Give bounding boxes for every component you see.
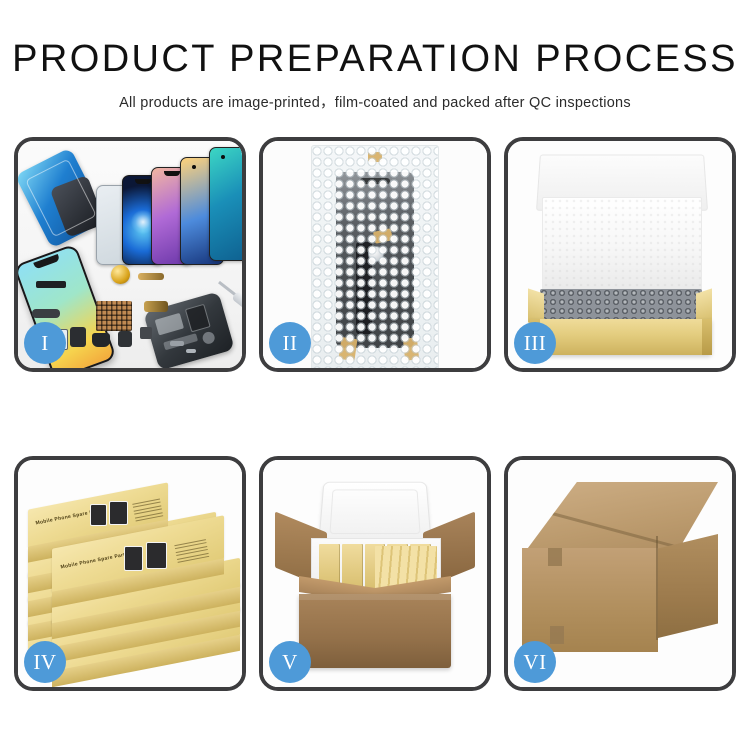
notch-icon <box>135 179 151 184</box>
spare-part-icon <box>118 331 132 347</box>
carton-tape-icon <box>548 548 562 566</box>
phone-screen-teal-icon <box>209 147 242 261</box>
step-badge-5: V <box>269 641 311 683</box>
step-panel-open-retail-box[interactable]: III <box>504 137 736 372</box>
header: PRODUCT PREPARATION PROCESS All products… <box>0 0 750 112</box>
yellow-box-base-icon <box>530 319 712 355</box>
bubble-texture-icon <box>312 146 438 368</box>
page-subtitle: All products are image-printed，film-coat… <box>0 91 750 112</box>
step-panel-phones-and-parts[interactable]: I <box>14 137 246 372</box>
step-panel-stacked-retail-boxes[interactable]: Mobile Phone Spare Parts Mobile Phone <box>14 456 246 691</box>
step-panel-sealed-shipping-carton[interactable]: VI <box>504 456 736 691</box>
carton-front-face-icon <box>522 548 658 652</box>
foam-lid-icon <box>318 482 431 543</box>
step-badge-6: VI <box>514 641 556 683</box>
infographic-page: PRODUCT PREPARATION PROCESS All products… <box>0 0 750 750</box>
step-badge-3: III <box>514 322 556 364</box>
spare-part-icon <box>140 327 152 339</box>
chassis-camera-module-icon <box>185 304 211 333</box>
phone-lineup-icon <box>96 147 242 265</box>
punch-hole-camera-icon <box>192 165 196 169</box>
carton-edge-icon <box>656 536 658 640</box>
carton-front-icon <box>299 594 451 668</box>
step-badge-4: IV <box>24 641 66 683</box>
spare-part-icon <box>36 281 66 288</box>
spare-part-icon <box>144 301 168 312</box>
box-product-photo-icon <box>146 542 167 569</box>
step-badge-1: I <box>24 322 66 364</box>
spare-part-icon <box>138 273 164 280</box>
screw-icon <box>170 341 184 346</box>
process-step-grid: I II <box>14 137 740 691</box>
spare-part-icon <box>70 327 86 347</box>
connector-array-icon <box>96 301 132 331</box>
box-product-photo-icon <box>90 504 107 526</box>
bubble-wrap-bag-icon <box>311 145 439 368</box>
stacked-box-top-rear-icon: Mobile Phone Spare Parts <box>28 496 168 534</box>
box-product-photo-icon <box>124 546 143 571</box>
screw-icon <box>186 349 196 353</box>
notch-icon <box>164 171 180 176</box>
carton-tape-icon <box>550 626 564 644</box>
chassis-battery-icon <box>155 313 184 336</box>
page-title: PRODUCT PREPARATION PROCESS <box>0 40 750 80</box>
spare-part-icon <box>32 309 60 318</box>
step-badge-2: II <box>269 322 311 364</box>
carton-right-side-icon <box>658 534 718 638</box>
white-foam-insert-icon <box>542 197 702 295</box>
stacked-box-top-front-icon: Mobile Phone Spare Parts <box>52 532 224 576</box>
gold-coil-part-icon <box>111 265 130 284</box>
punch-hole-camera-icon <box>221 155 225 159</box>
box-product-photo-icon <box>109 501 128 525</box>
step-panel-bubble-wrapped-screen[interactable]: II <box>259 137 491 372</box>
chassis-speaker-icon <box>201 330 216 345</box>
step-panel-foam-lined-carton[interactable]: V <box>259 456 491 691</box>
spare-part-icon <box>92 333 110 347</box>
grey-foam-padding-icon <box>540 289 702 323</box>
